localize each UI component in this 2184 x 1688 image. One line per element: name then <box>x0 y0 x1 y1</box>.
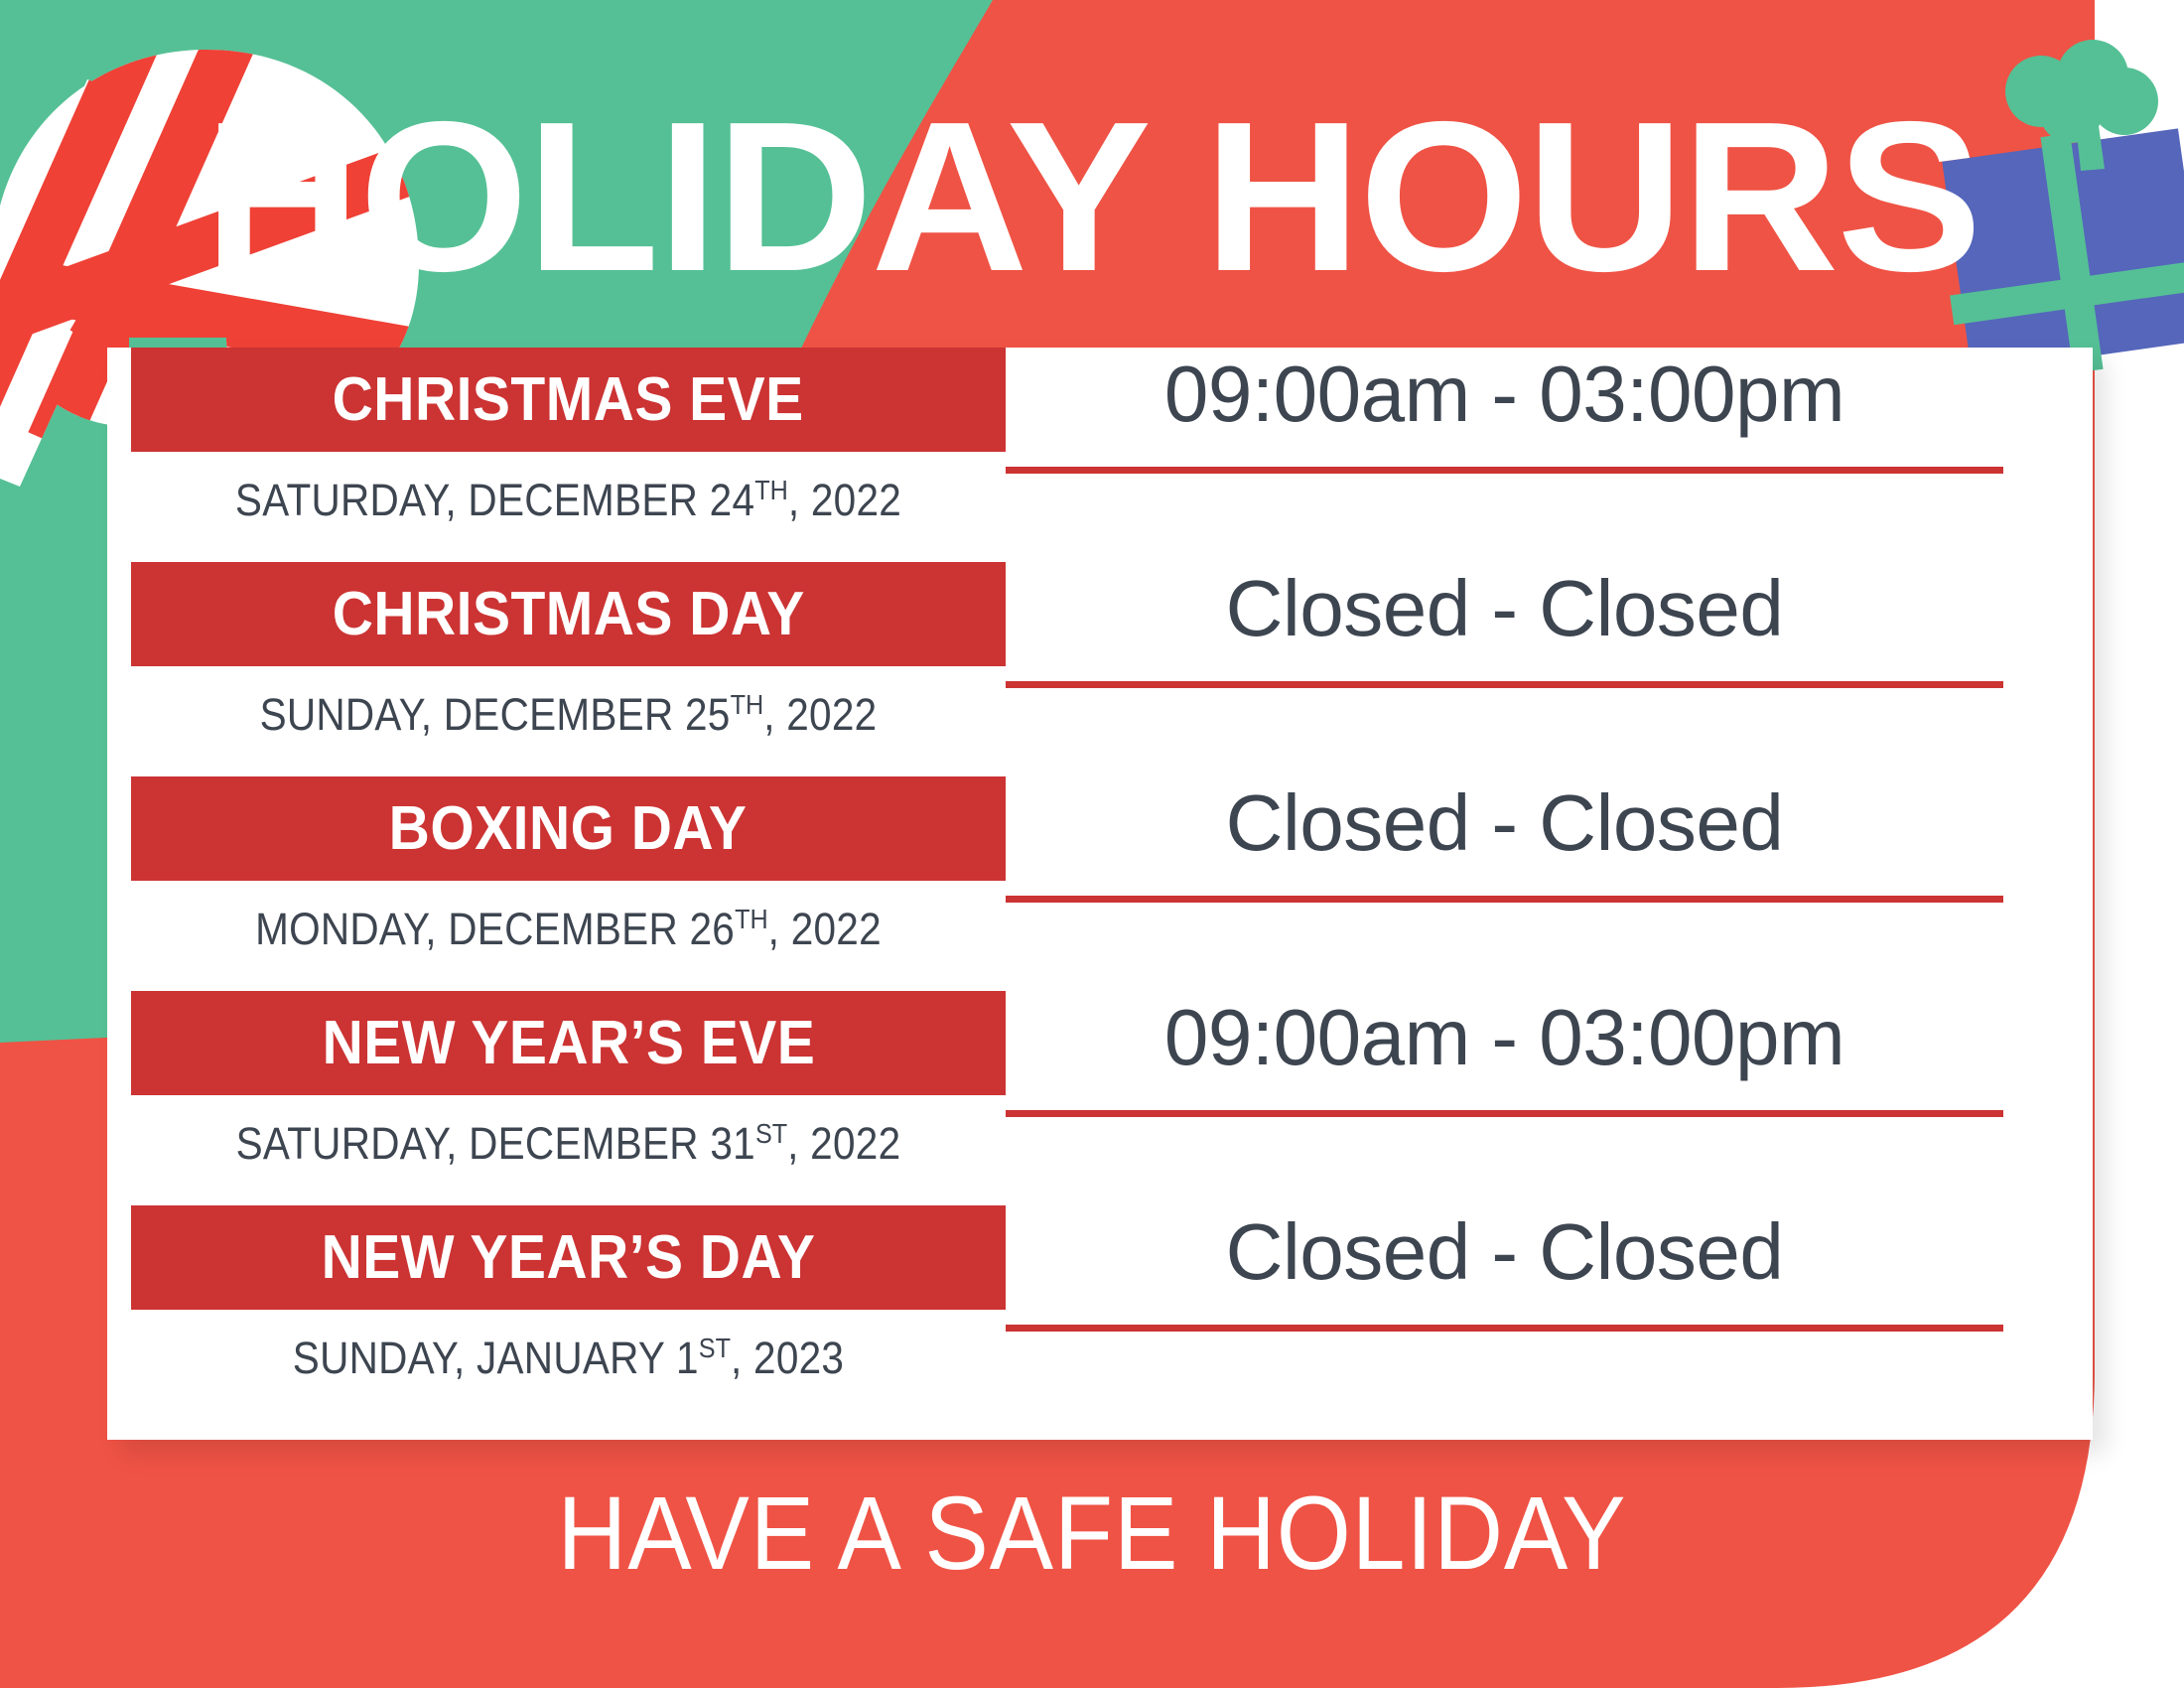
page-title: HOLIDAY HOURS <box>0 89 2184 303</box>
footer-message: HAVE A SAFE HOLIDAY <box>87 1479 2097 1589</box>
schedule-card: CHRISTMAS EVESATURDAY, DECEMBER 24TH, 20… <box>107 348 2093 1440</box>
holiday-hours: 09:00am - 03:00pm <box>1006 983 2003 1092</box>
holiday-date-weekday: SATURDAY, DECEMBER 24 <box>235 475 754 525</box>
holiday-date-year: , 2022 <box>768 904 882 954</box>
holiday-name-band: NEW YEAR’S DAY <box>131 1205 1006 1310</box>
holiday-name-band: BOXING DAY <box>131 776 1006 881</box>
holiday-date-year: , 2023 <box>731 1333 844 1383</box>
holiday-name-band: NEW YEAR’S EVE <box>131 991 1006 1095</box>
hours-underline <box>1006 1325 2003 1332</box>
holiday-date-weekday: MONDAY, DECEMBER 26 <box>255 904 735 954</box>
table-row: BOXING DAYMONDAY, DECEMBER 26TH, 2022Clo… <box>107 776 2093 991</box>
holiday-name-band: CHRISTMAS EVE <box>131 348 1006 452</box>
hours-underline <box>1006 1110 2003 1117</box>
holiday-date-ordinal: TH <box>754 475 788 505</box>
holiday-date: SUNDAY, JANUARY 1ST, 2023 <box>175 1323 962 1384</box>
holiday-hours: Closed - Closed <box>1006 554 2003 663</box>
table-row: NEW YEAR’S EVESATURDAY, DECEMBER 31ST, 2… <box>107 991 2093 1205</box>
holiday-date: SUNDAY, DECEMBER 25TH, 2022 <box>175 679 962 741</box>
holiday-name-label: NEW YEAR’S EVE <box>322 1013 815 1074</box>
holiday-date: MONDAY, DECEMBER 26TH, 2022 <box>175 894 962 955</box>
hours-underline <box>1006 681 2003 688</box>
holiday-date-year: , 2022 <box>787 1118 900 1169</box>
holiday-date-year: , 2022 <box>763 689 877 740</box>
holiday-hours: Closed - Closed <box>1006 1197 2003 1307</box>
holiday-name-label: CHRISTMAS DAY <box>332 584 804 645</box>
hours-underline <box>1006 467 2003 474</box>
table-row: CHRISTMAS DAYSUNDAY, DECEMBER 25TH, 2022… <box>107 562 2093 776</box>
table-row: NEW YEAR’S DAYSUNDAY, JANUARY 1ST, 2023C… <box>107 1205 2093 1420</box>
hours-underline <box>1006 896 2003 903</box>
holiday-hours: Closed - Closed <box>1006 769 2003 878</box>
holiday-date-year: , 2022 <box>788 475 901 525</box>
holiday-hours: 09:00am - 03:00pm <box>1006 340 2003 449</box>
holiday-name-band: CHRISTMAS DAY <box>131 562 1006 666</box>
holiday-name-label: BOXING DAY <box>389 798 748 860</box>
holiday-date-ordinal: TH <box>735 904 768 934</box>
holiday-date: SATURDAY, DECEMBER 24TH, 2022 <box>175 465 962 526</box>
holiday-date-weekday: SUNDAY, JANUARY 1 <box>293 1333 699 1383</box>
holiday-date-weekday: SUNDAY, DECEMBER 25 <box>260 689 731 740</box>
schedule-rows: CHRISTMAS EVESATURDAY, DECEMBER 24TH, 20… <box>107 348 2093 1440</box>
table-row: CHRISTMAS EVESATURDAY, DECEMBER 24TH, 20… <box>107 348 2093 562</box>
holiday-date: SATURDAY, DECEMBER 31ST, 2022 <box>175 1108 962 1170</box>
holiday-name-label: NEW YEAR’S DAY <box>322 1227 816 1289</box>
poster-canvas: HOLIDAY HOURS CHRISTMAS EVESATURDAY, DEC… <box>0 0 2184 1688</box>
holiday-date-weekday: SATURDAY, DECEMBER 31 <box>236 1118 755 1169</box>
holiday-date-ordinal: ST <box>755 1118 787 1149</box>
holiday-name-label: CHRISTMAS EVE <box>333 369 804 431</box>
holiday-date-ordinal: ST <box>699 1333 731 1363</box>
holiday-date-ordinal: TH <box>731 689 764 720</box>
